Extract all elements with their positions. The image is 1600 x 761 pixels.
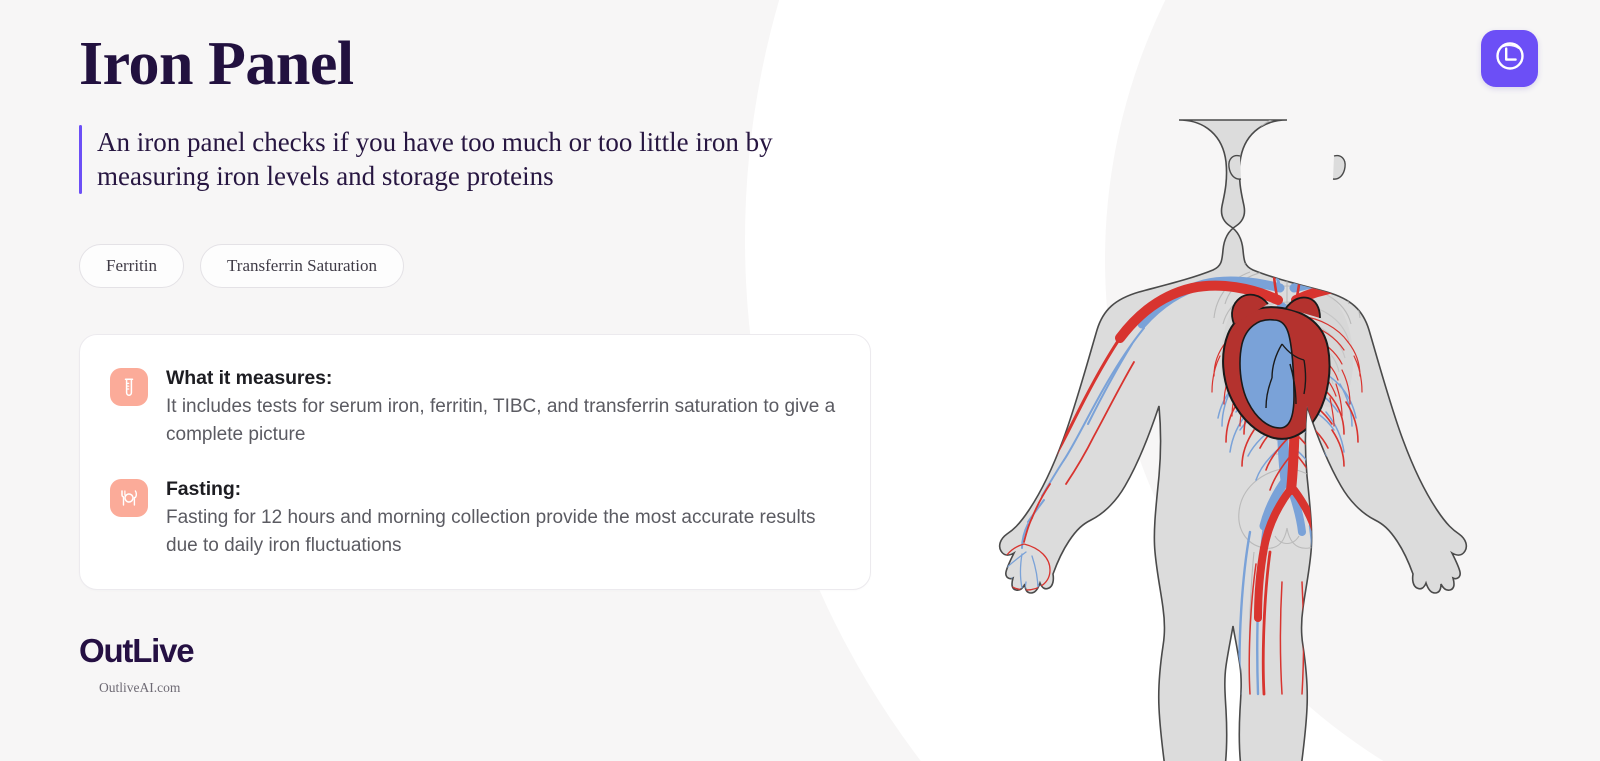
outlive-logo-badge[interactable]: [1481, 30, 1538, 87]
info-item-what-it-measures: What it measures: It includes tests for …: [110, 365, 836, 448]
info-card: What it measures: It includes tests for …: [79, 334, 871, 591]
page-title: Iron Panel: [79, 32, 879, 97]
test-tube-icon: [110, 368, 148, 406]
info-item-fasting: Fasting: Fasting for 12 hours and mornin…: [110, 476, 836, 559]
utensils-icon: [110, 479, 148, 517]
human-circulatory-system-illustration: [982, 112, 1592, 761]
info-body: Fasting: Fasting for 12 hours and mornin…: [166, 476, 836, 559]
biomarker-pill-list: Ferritin Transferrin Saturation: [79, 244, 879, 288]
subtitle-block: An iron panel checks if you have too muc…: [79, 125, 879, 194]
outlive-wordmark: OutLive: [79, 634, 879, 667]
outlive-circle-l-logo-icon: [1492, 38, 1528, 79]
page-root: Iron Panel An iron panel checks if you h…: [0, 0, 1600, 761]
subtitle-text: An iron panel checks if you have too muc…: [97, 125, 817, 194]
subtitle-accent-bar: [79, 125, 82, 194]
info-heading: What it measures:: [166, 365, 836, 391]
info-description: Fasting for 12 hours and morning collect…: [166, 504, 836, 559]
footer-domain: OutliveAI.com: [99, 680, 879, 696]
pill-ferritin[interactable]: Ferritin: [79, 244, 184, 288]
info-heading: Fasting:: [166, 476, 836, 502]
pill-transferrin-saturation[interactable]: Transferrin Saturation: [200, 244, 404, 288]
info-body: What it measures: It includes tests for …: [166, 365, 836, 448]
info-description: It includes tests for serum iron, ferrit…: [166, 393, 836, 448]
footer: OutLive OutliveAI.com: [79, 634, 879, 696]
content-column: Iron Panel An iron panel checks if you h…: [79, 0, 879, 696]
